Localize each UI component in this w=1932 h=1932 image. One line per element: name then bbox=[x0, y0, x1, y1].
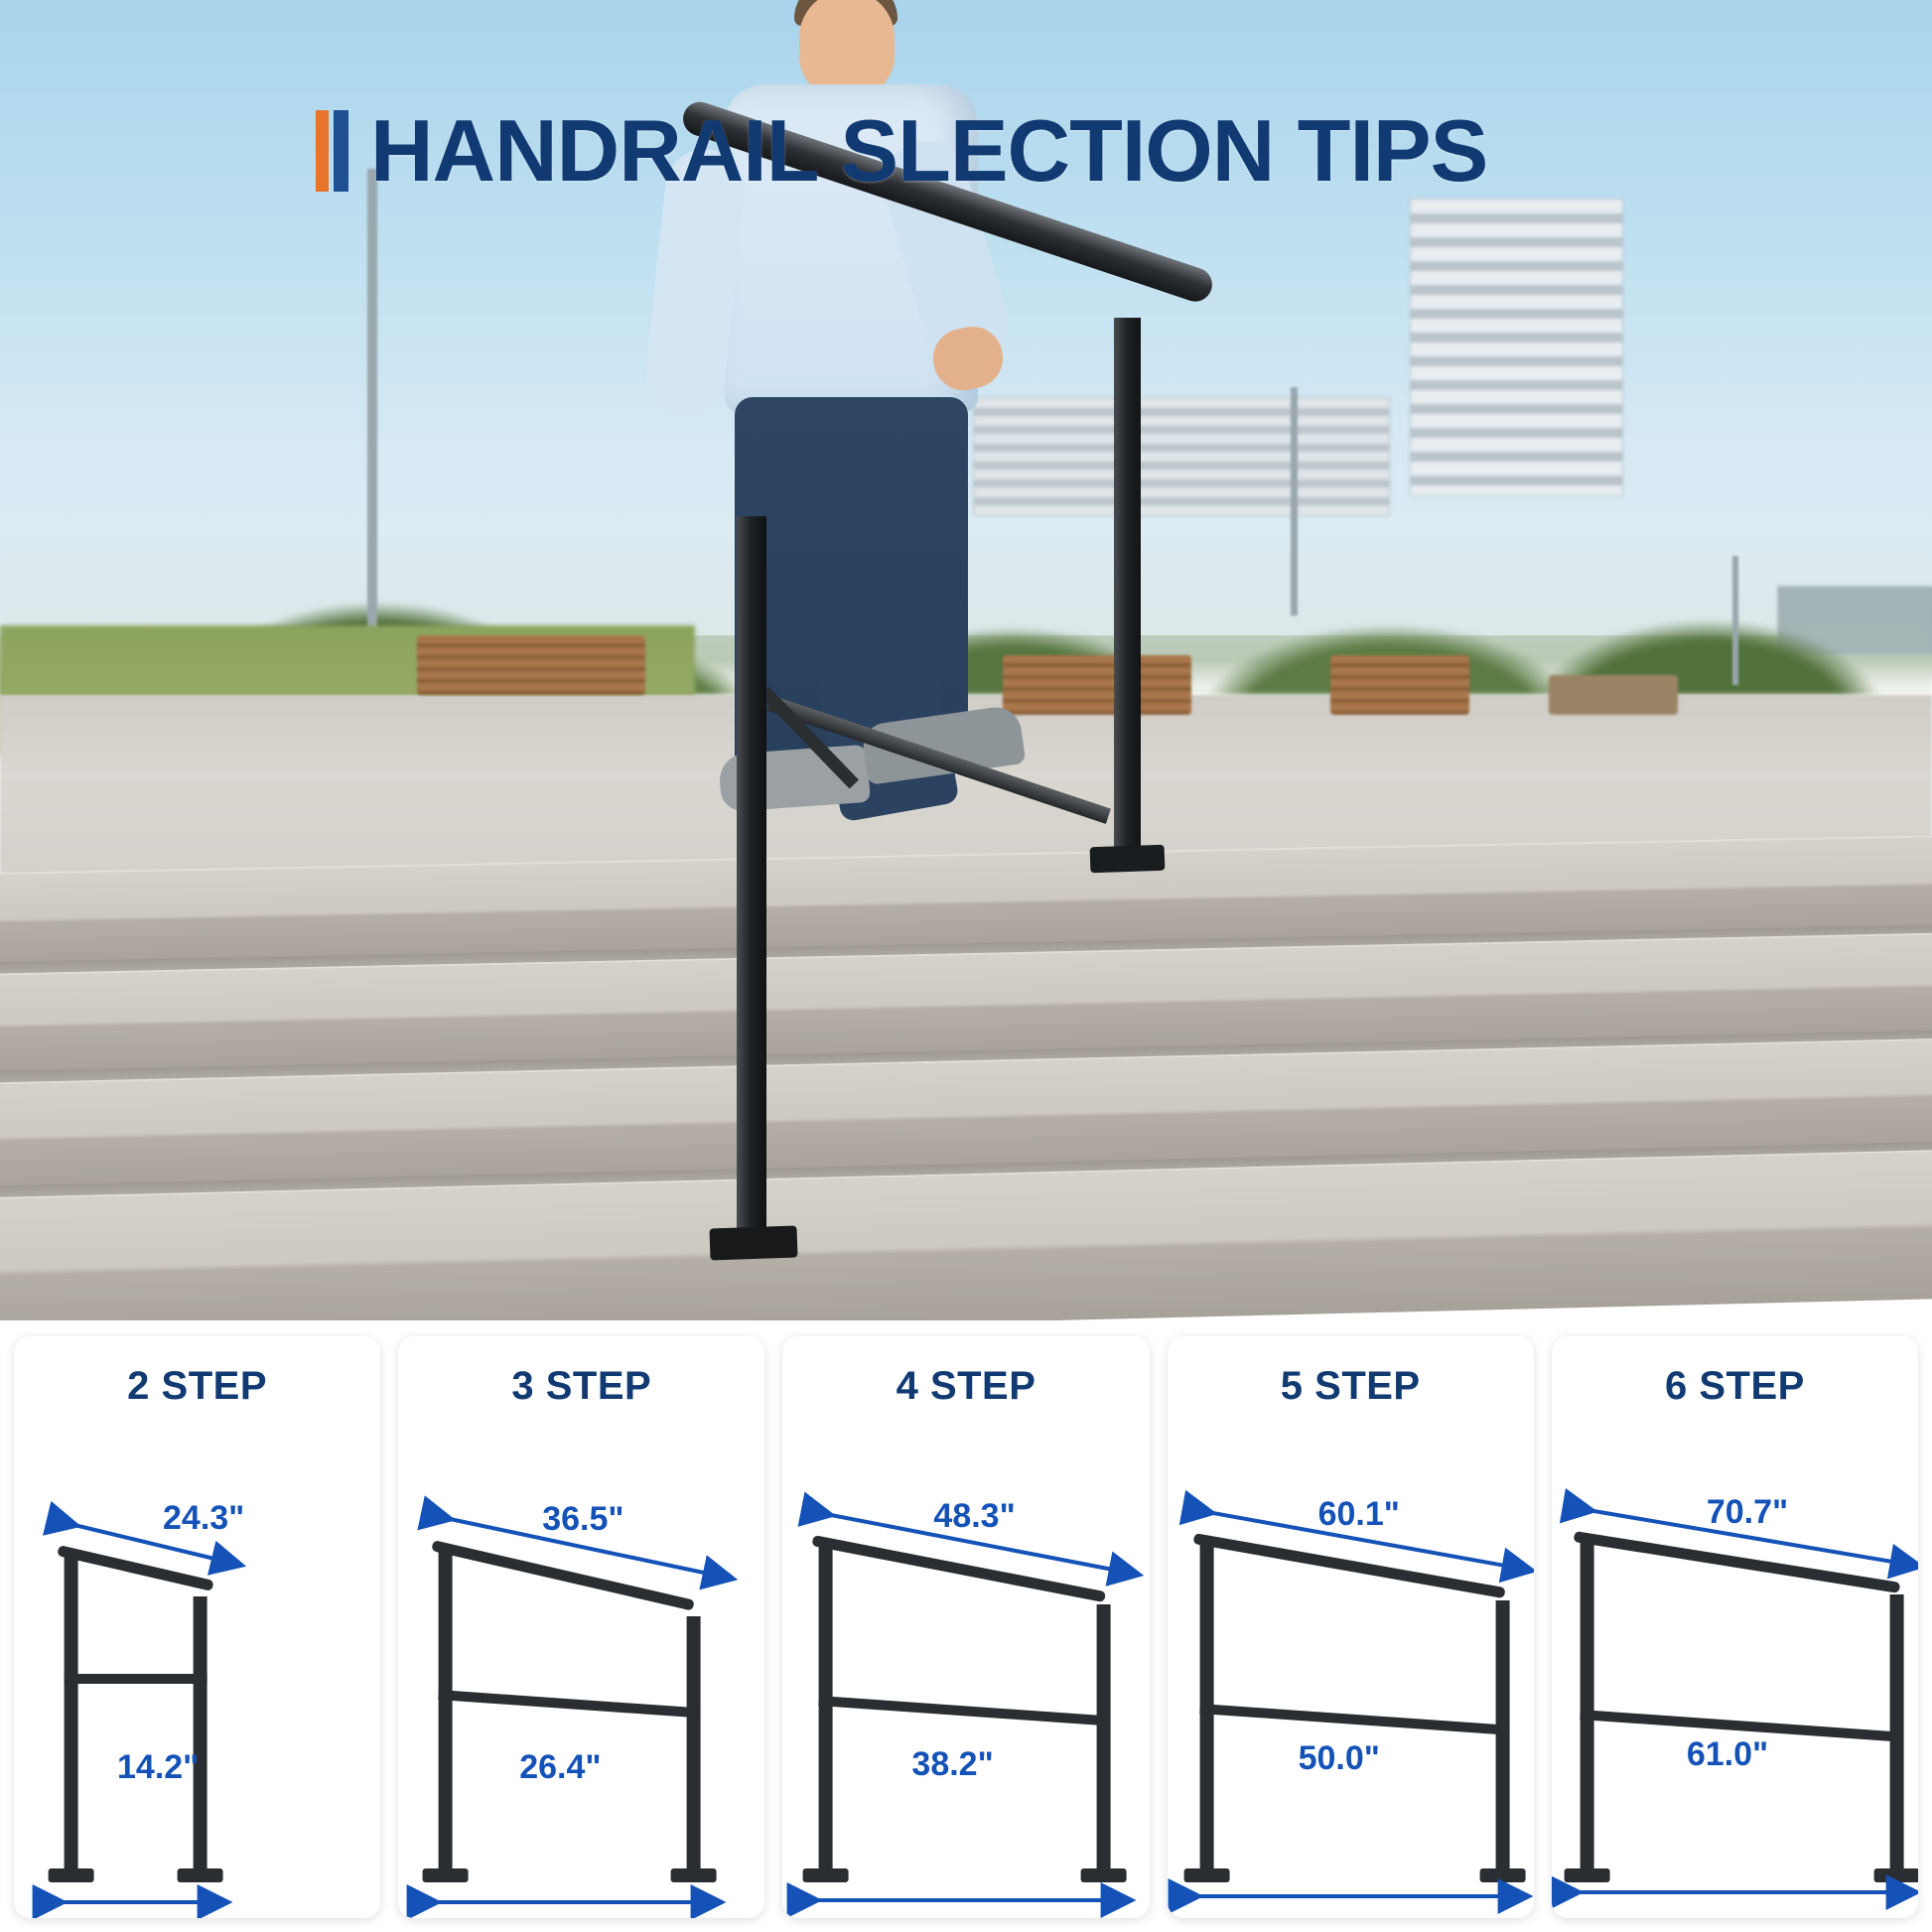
handrail-upper-post bbox=[1114, 318, 1141, 854]
step-size-cards: 2 STEP 24.3" 14.2" bbox=[0, 1326, 1932, 1932]
bottom-dimension-label: 14.2" bbox=[117, 1748, 199, 1787]
lamp-post-2 bbox=[1291, 387, 1298, 616]
lamp-post-1 bbox=[367, 169, 377, 685]
park-bench bbox=[1549, 675, 1678, 715]
top-dimension-label: 60.1" bbox=[1318, 1495, 1400, 1534]
handrail-upper-base-plate bbox=[1090, 845, 1166, 874]
top-dimension-label: 48.3" bbox=[933, 1497, 1015, 1536]
page-title: HANDRAIL SLECTION TIPS bbox=[370, 107, 1487, 195]
card-title: 2 STEP bbox=[14, 1364, 380, 1409]
card-4-step[interactable]: 4 STEP 48.3" 38.2" bbox=[782, 1336, 1149, 1918]
card-title: 4 STEP bbox=[782, 1364, 1149, 1409]
card-5-step[interactable]: 5 STEP 60.1" 50.0" bbox=[1168, 1336, 1534, 1918]
lamp-post-3 bbox=[1732, 556, 1738, 685]
banner-title-group: HANDRAIL SLECTION TIPS bbox=[316, 107, 1487, 195]
top-dimension-label: 36.5" bbox=[542, 1500, 623, 1539]
card-title: 3 STEP bbox=[398, 1364, 764, 1409]
bottom-dimension-label: 38.2" bbox=[911, 1745, 993, 1784]
card-3-step[interactable]: 3 STEP 36.5" 26.4" bbox=[398, 1336, 764, 1918]
card-title: 6 STEP bbox=[1552, 1364, 1918, 1409]
handrail-diagram bbox=[1168, 1406, 1534, 1918]
handrail-diagram bbox=[398, 1406, 764, 1918]
handrail-lower-post bbox=[737, 516, 766, 1241]
accent-bar-orange bbox=[316, 110, 329, 192]
card-6-step[interactable]: 6 STEP 70.7" 61.0" bbox=[1552, 1336, 1918, 1918]
top-dimension-label: 24.3" bbox=[163, 1499, 244, 1538]
bottom-dimension-label: 61.0" bbox=[1687, 1735, 1768, 1774]
handrail-diagram bbox=[14, 1406, 380, 1918]
bottom-dimension-label: 26.4" bbox=[519, 1748, 601, 1787]
bottom-dimension-label: 50.0" bbox=[1299, 1739, 1380, 1778]
card-2-step[interactable]: 2 STEP 24.3" 14.2" bbox=[14, 1336, 380, 1918]
accent-bar-blue bbox=[334, 110, 348, 192]
top-dimension-label: 70.7" bbox=[1707, 1493, 1788, 1532]
title-accent-bars bbox=[316, 110, 348, 192]
card-title: 5 STEP bbox=[1168, 1364, 1534, 1409]
park-bench bbox=[417, 635, 645, 695]
park-bench bbox=[1330, 655, 1469, 715]
hero-photo: HANDRAIL SLECTION TIPS bbox=[0, 0, 1932, 1320]
infographic-page: HANDRAIL SLECTION TIPS 2 STEP bbox=[0, 0, 1932, 1932]
handrail-diagram bbox=[782, 1406, 1149, 1918]
handrail-lower-base-plate bbox=[709, 1225, 797, 1260]
handrail-diagram bbox=[1552, 1406, 1918, 1918]
